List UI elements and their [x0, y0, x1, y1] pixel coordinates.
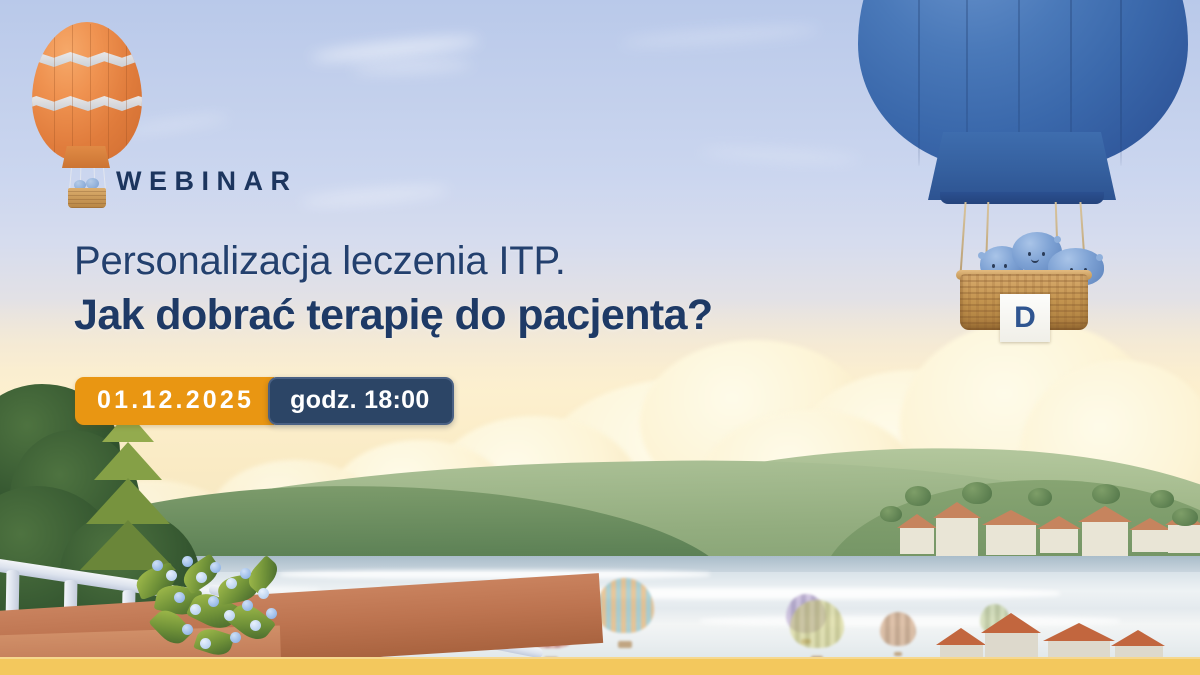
eyebrow-row: WEBINAR [116, 168, 298, 195]
banner-content: WEBINAR Personalizacja leczenia ITP. Jak… [0, 0, 1200, 675]
eyebrow-label: WEBINAR [116, 168, 298, 195]
bottom-accent-bar [0, 657, 1200, 675]
headline-line-1: Personalizacja leczenia ITP. [74, 240, 566, 283]
date-time-badges: 01.12.2025 godz. 18:00 [75, 377, 454, 425]
time-badge: godz. 18:00 [268, 377, 453, 425]
headline-line-2: Jak dobrać terapię do pacjenta? [74, 292, 713, 338]
date-badge: 01.12.2025 [75, 377, 274, 425]
webinar-banner: D WEBINAR Personalizacja leczenia ITP. J… [0, 0, 1200, 675]
